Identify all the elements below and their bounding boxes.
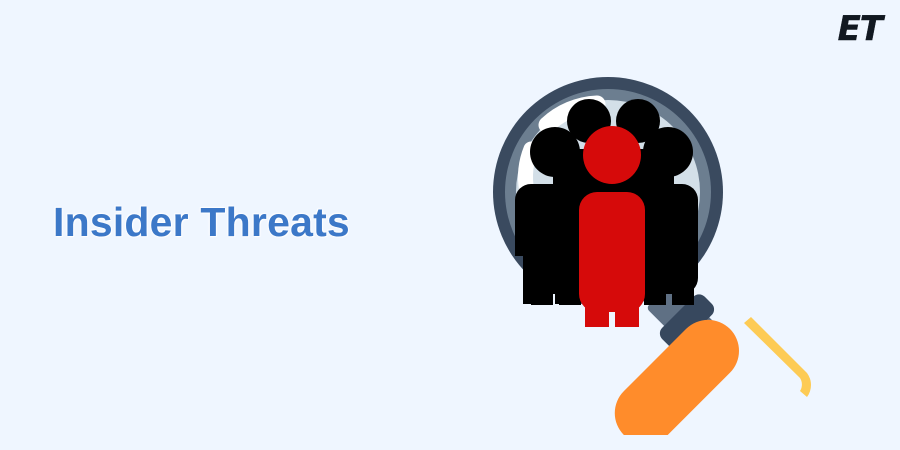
brand-logo: ET	[838, 12, 882, 46]
page-title: Insider Threats	[53, 202, 350, 243]
person-right	[638, 127, 698, 305]
magnifying-glass-icon	[455, 45, 855, 435]
insider-threats-banner: ET Insider Threats	[0, 0, 900, 450]
people-group	[515, 99, 698, 327]
person-center-insider	[579, 126, 645, 327]
